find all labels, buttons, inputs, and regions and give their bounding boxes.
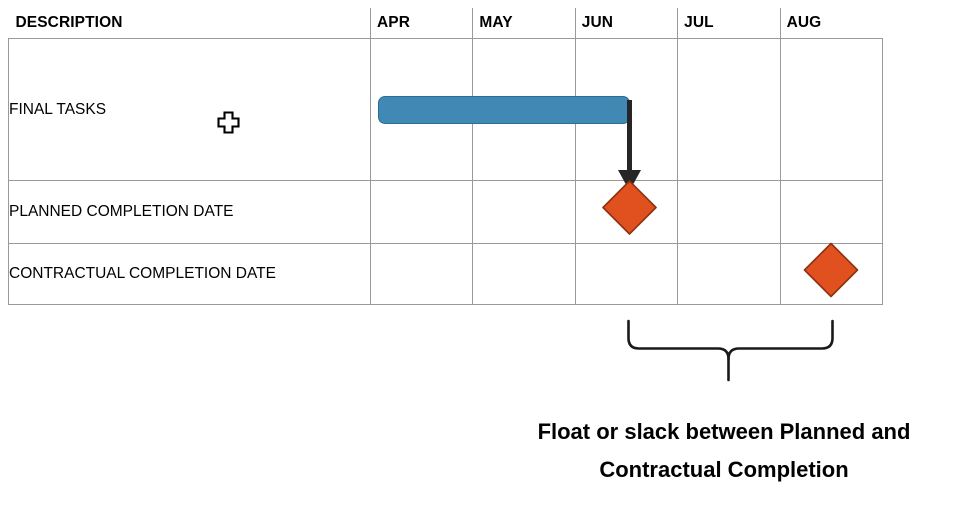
gantt-table: DESCRIPTION APR MAY JUN JUL AUG FINAL TA… (8, 8, 883, 305)
column-header-may: MAY (473, 8, 575, 39)
cell-planned-apr (371, 181, 473, 244)
column-header-aug: AUG (780, 8, 882, 39)
table-row-planned-completion: PLANNED COMPLETION DATE (9, 181, 883, 244)
diagram-canvas: DESCRIPTION APR MAY JUN JUL AUG FINAL TA… (0, 0, 969, 511)
cell-planned-aug (780, 181, 882, 244)
caption-line-2: Contractual Completion (489, 451, 959, 489)
row-label-contractual-completion: CONTRACTUAL COMPLETION DATE (9, 244, 371, 305)
cell-contract-jul (678, 244, 780, 305)
row-label-planned-completion: PLANNED COMPLETION DATE (9, 181, 371, 244)
task-bar-final-tasks[interactable] (378, 96, 630, 124)
cell-final-aug (780, 39, 882, 181)
cell-contract-may (473, 244, 575, 305)
caption-float-slack: Float or slack between Planned and Contr… (489, 413, 959, 489)
cell-planned-may (473, 181, 575, 244)
cell-contract-apr (371, 244, 473, 305)
cell-final-jul (678, 39, 780, 181)
column-header-apr: APR (371, 8, 473, 39)
table-row-contractual-completion: CONTRACTUAL COMPLETION DATE (9, 244, 883, 305)
column-header-jul: JUL (678, 8, 780, 39)
caption-line-1: Float or slack between Planned and (489, 413, 959, 451)
curly-brace-icon (629, 321, 833, 380)
cell-planned-jun (575, 181, 677, 244)
column-header-description: DESCRIPTION (9, 8, 371, 39)
cell-contract-aug (780, 244, 882, 305)
cell-contract-jun (575, 244, 677, 305)
row-label-final-tasks: FINAL TASKS (9, 39, 371, 181)
cell-planned-jul (678, 181, 780, 244)
column-header-jun: JUN (575, 8, 677, 39)
table-header-row: DESCRIPTION APR MAY JUN JUL AUG (9, 8, 883, 39)
